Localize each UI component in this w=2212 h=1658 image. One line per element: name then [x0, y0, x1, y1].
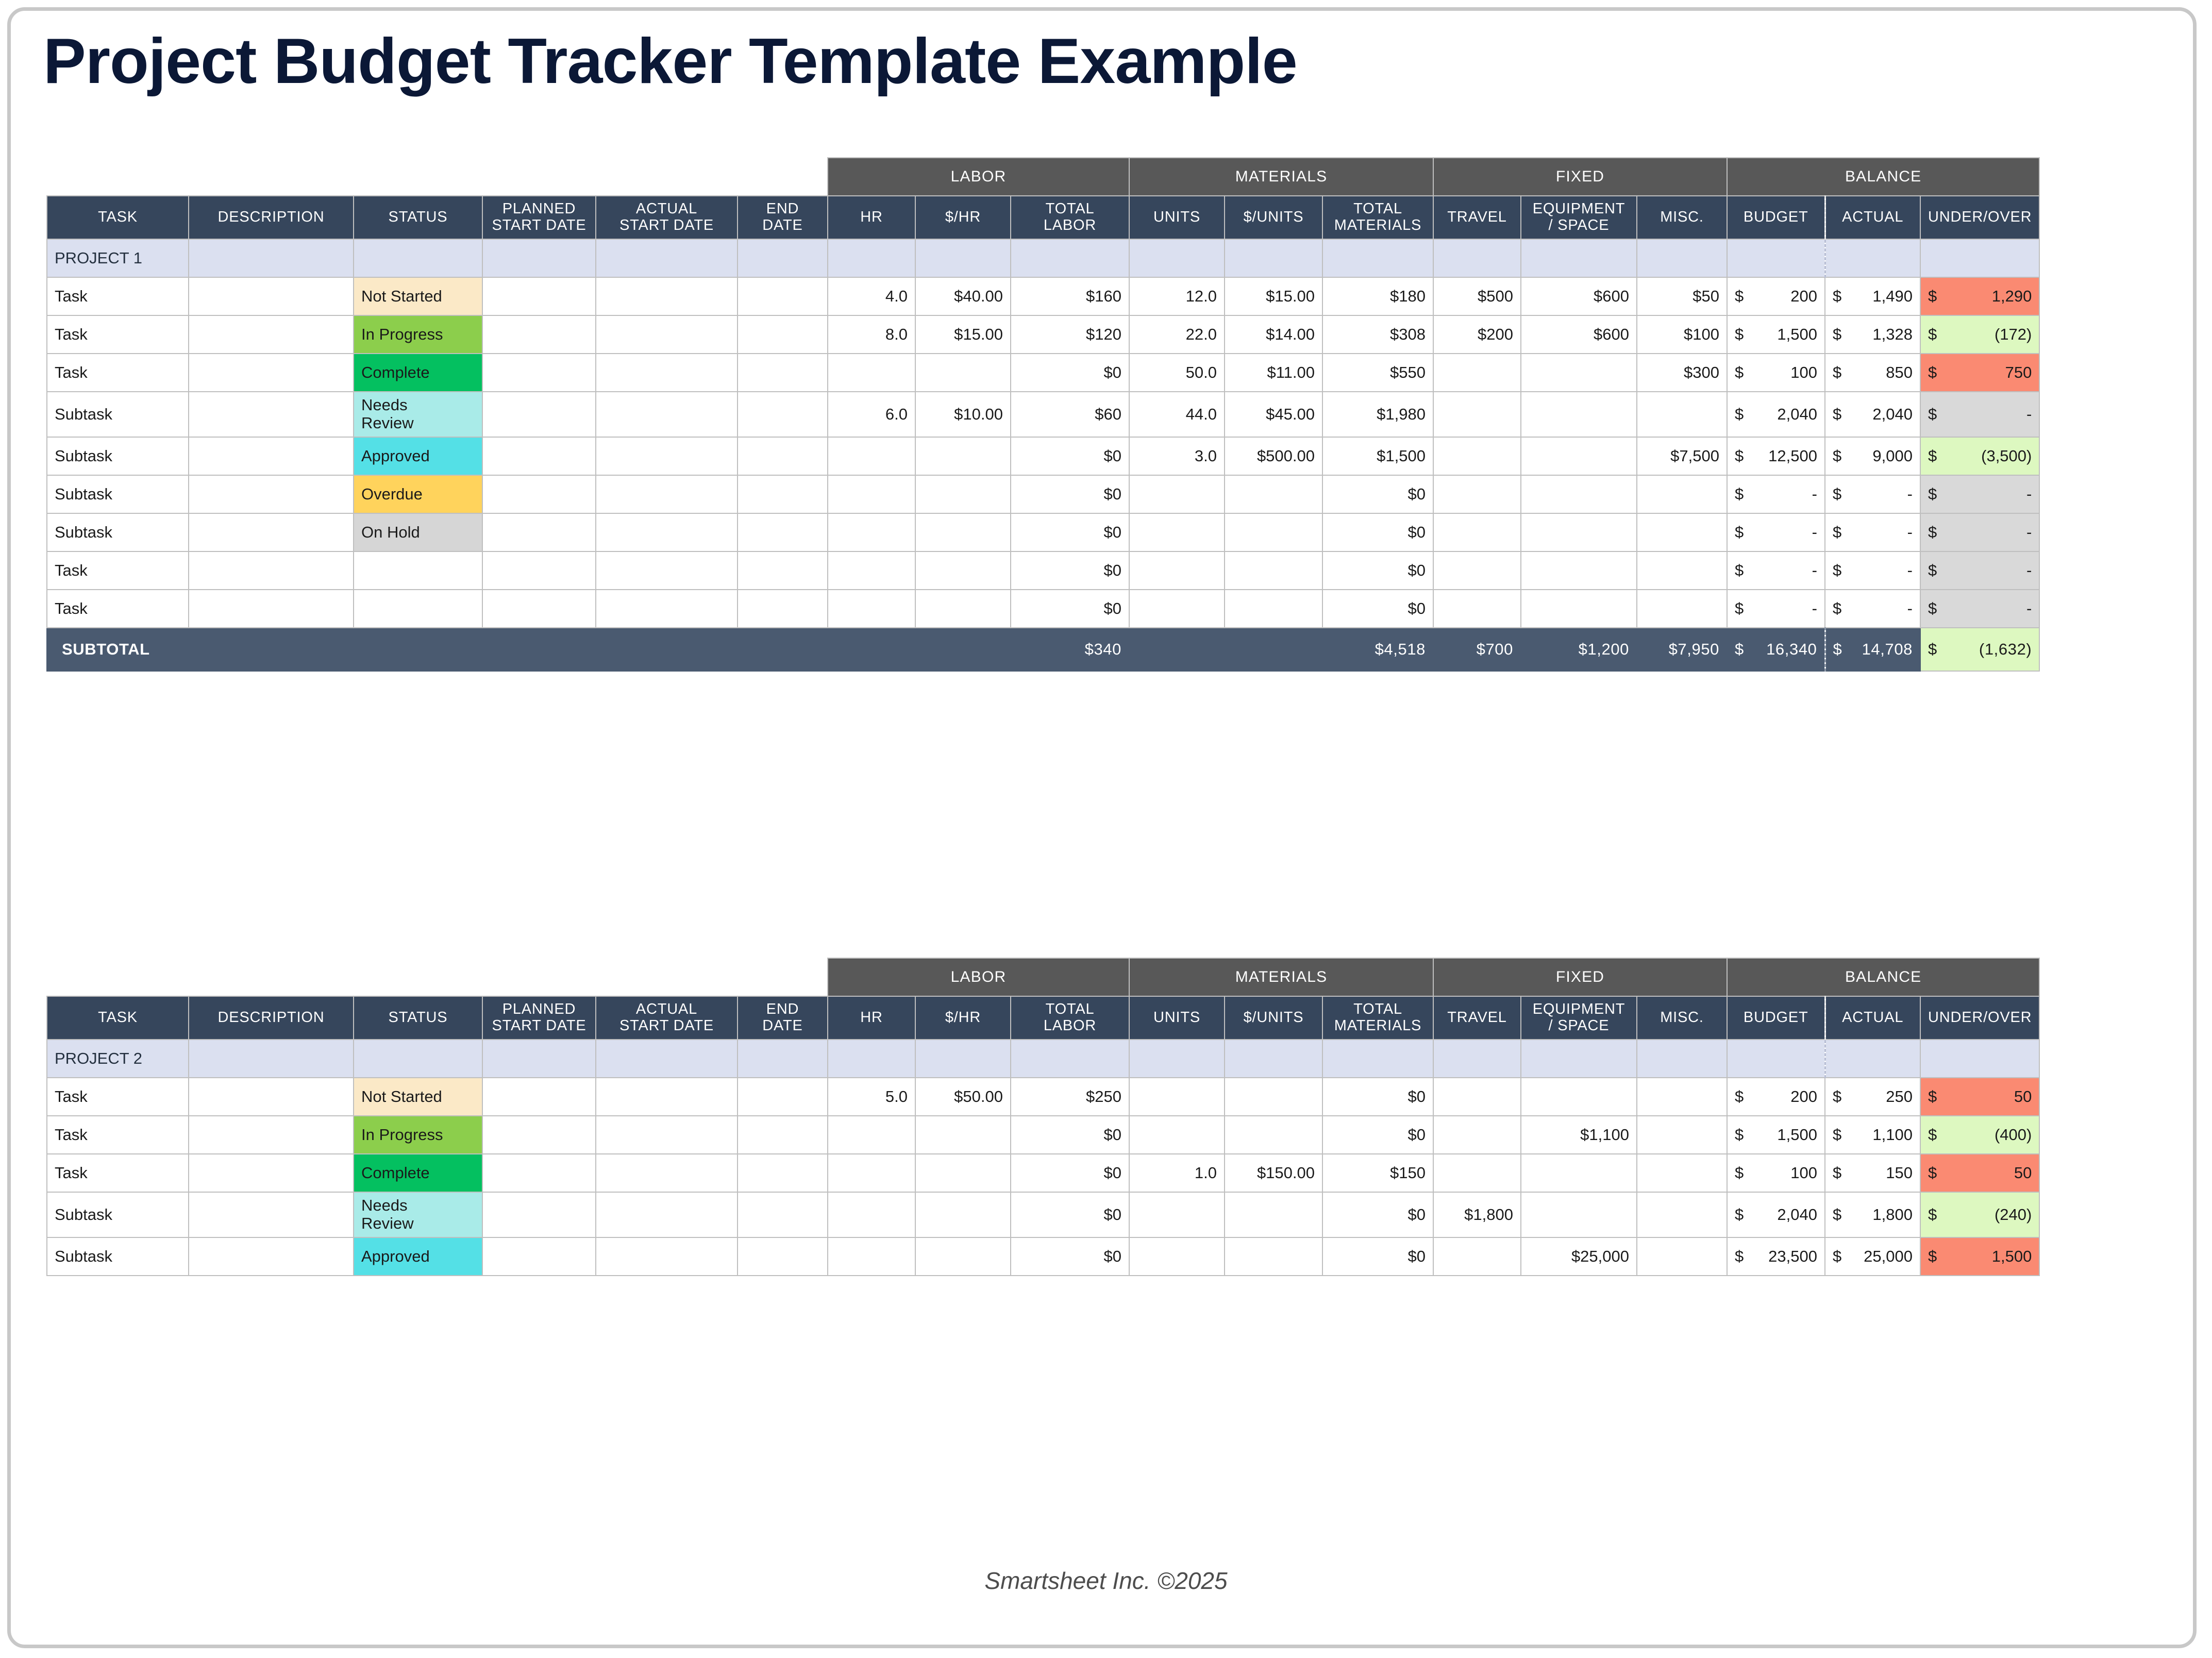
actual-start-date-cell[interactable]	[596, 315, 738, 354]
actual-cell: $1,328	[1825, 315, 1920, 354]
status-badge[interactable]: Approved	[354, 437, 482, 475]
units-cell[interactable]: 3.0	[1129, 437, 1225, 475]
subtask-label[interactable]: Subtask	[47, 437, 189, 475]
unit-cost-cell[interactable]	[1225, 1192, 1322, 1237]
end-date-cell[interactable]	[738, 590, 828, 628]
group-header-balance: BALANCE	[1727, 158, 2039, 196]
equipment-cell[interactable]: $25,000	[1521, 1237, 1637, 1276]
hr-cell[interactable]: 5.0	[828, 1078, 915, 1116]
status-badge[interactable]: Approved	[354, 1237, 482, 1276]
misc-cell[interactable]: $50	[1637, 277, 1727, 315]
rate-cell[interactable]	[915, 475, 1011, 513]
column-header-description: DESCRIPTION	[189, 996, 354, 1040]
subtotal-budget: $16,340	[1727, 628, 1825, 671]
actual-cell: $-	[1825, 475, 1920, 513]
equipment-cell[interactable]: $1,100	[1521, 1116, 1637, 1154]
total-materials-cell: $0	[1322, 1116, 1433, 1154]
rate-cell[interactable]	[915, 1192, 1011, 1237]
rate-cell[interactable]	[915, 513, 1011, 551]
actual-start-date-cell[interactable]	[596, 437, 738, 475]
subtotal-travel: $700	[1433, 628, 1521, 671]
status-badge[interactable]	[354, 551, 482, 590]
table-row: TaskComplete$01.0$150.00$150$100$150$50	[47, 1154, 2039, 1192]
column-header-misc: MISC.	[1637, 996, 1727, 1040]
column-header-status: STATUS	[354, 196, 482, 239]
description-cell[interactable]	[189, 1237, 354, 1276]
subtotal-blank-cell	[596, 628, 738, 671]
task-label[interactable]: Task	[47, 277, 189, 315]
footer-credit: Smartsheet Inc. ©2025	[0, 1567, 2212, 1595]
total-labor-cell: $0	[1011, 437, 1129, 475]
hr-cell[interactable]	[828, 513, 915, 551]
actual-start-date-cell[interactable]	[596, 277, 738, 315]
subtotal-blank-cell	[482, 628, 596, 671]
hr-cell[interactable]	[828, 1154, 915, 1192]
actual-cell: $-	[1825, 551, 1920, 590]
column-header-equipment-space: EQUIPMENT/ SPACE	[1521, 196, 1637, 239]
units-cell[interactable]	[1129, 1116, 1225, 1154]
equipment-cell[interactable]: $600	[1521, 277, 1637, 315]
misc-cell[interactable]	[1637, 513, 1727, 551]
status-badge[interactable]: In Progress	[354, 1116, 482, 1154]
project-label: PROJECT 2	[47, 1040, 189, 1078]
misc-cell[interactable]	[1637, 475, 1727, 513]
actual-start-date-cell[interactable]	[596, 513, 738, 551]
actual-cell: $2,040	[1825, 392, 1920, 437]
planned-start-date-cell[interactable]	[482, 475, 596, 513]
project-row-cell	[354, 239, 482, 277]
unit-cost-cell[interactable]: $14.00	[1225, 315, 1322, 354]
subtotal-units	[1129, 628, 1225, 671]
misc-cell[interactable]: $300	[1637, 354, 1727, 392]
column-header-total-labor: TOTALLABOR	[1011, 196, 1129, 239]
unit-cost-cell[interactable]: $150.00	[1225, 1154, 1322, 1192]
rate-cell[interactable]	[915, 551, 1011, 590]
hr-cell[interactable]	[828, 437, 915, 475]
project-row-cell	[1011, 1040, 1129, 1078]
total-labor-cell: $0	[1011, 354, 1129, 392]
end-date-cell[interactable]	[738, 475, 828, 513]
status-badge[interactable]: On Hold	[354, 513, 482, 551]
column-header-description: DESCRIPTION	[189, 196, 354, 239]
hr-cell[interactable]: 4.0	[828, 277, 915, 315]
total-materials-cell: $308	[1322, 315, 1433, 354]
actual-start-date-cell[interactable]	[596, 1237, 738, 1276]
unit-cost-cell[interactable]: $45.00	[1225, 392, 1322, 437]
project-header-row: PROJECT 2	[47, 1040, 2039, 1078]
column-header-budget: BUDGET	[1727, 196, 1825, 239]
end-date-cell[interactable]	[738, 354, 828, 392]
table-row: TaskIn Progress$0$0$1,100$1,500$1,100$(4…	[47, 1116, 2039, 1154]
description-cell[interactable]	[189, 277, 354, 315]
travel-cell[interactable]	[1433, 1116, 1521, 1154]
column-header-equipment-space: EQUIPMENT/ SPACE	[1521, 996, 1637, 1040]
total-materials-cell: $150	[1322, 1154, 1433, 1192]
under-over-cell: $1,290	[1920, 277, 2039, 315]
unit-cost-cell[interactable]: $15.00	[1225, 277, 1322, 315]
description-cell[interactable]	[189, 590, 354, 628]
project-row-cell	[1322, 1040, 1433, 1078]
budget-cell: $12,500	[1727, 437, 1825, 475]
column-header-end-date: ENDDATE	[738, 996, 828, 1040]
project-row-cell	[1322, 239, 1433, 277]
planned-start-date-cell[interactable]	[482, 513, 596, 551]
table-row: SubtaskNeedsReview6.0$10.00$6044.0$45.00…	[47, 392, 2039, 437]
column-header-row: TASKDESCRIPTIONSTATUSPLANNEDSTART DATEAC…	[47, 996, 2039, 1040]
subtotal-hr	[828, 628, 915, 671]
project-row-cell	[354, 1040, 482, 1078]
unit-cost-cell[interactable]	[1225, 1116, 1322, 1154]
subtotal-blank-cell	[189, 628, 354, 671]
units-cell[interactable]: 50.0	[1129, 354, 1225, 392]
project-row-cell	[1637, 239, 1727, 277]
equipment-cell[interactable]	[1521, 475, 1637, 513]
actual-start-date-cell[interactable]	[596, 1154, 738, 1192]
description-cell[interactable]	[189, 1192, 354, 1237]
hr-cell[interactable]: 8.0	[828, 315, 915, 354]
column-header-status: STATUS	[354, 996, 482, 1040]
project-row-cell	[1727, 239, 1825, 277]
table-row: SubtaskOverdue$0$0$-$-$-	[47, 475, 2039, 513]
rate-cell[interactable]	[915, 1116, 1011, 1154]
column-header-travel: TRAVEL	[1433, 196, 1521, 239]
planned-start-date-cell[interactable]	[482, 551, 596, 590]
misc-cell[interactable]: $7,500	[1637, 437, 1727, 475]
misc-cell[interactable]	[1637, 551, 1727, 590]
table-row: TaskIn Progress8.0$15.00$12022.0$14.00$3…	[47, 315, 2039, 354]
task-label[interactable]: Task	[47, 1154, 189, 1192]
column-header-hr: $/HR	[915, 196, 1011, 239]
description-cell[interactable]	[189, 475, 354, 513]
subtask-label[interactable]: Subtask	[47, 513, 189, 551]
planned-start-date-cell[interactable]	[482, 277, 596, 315]
hr-cell[interactable]	[828, 1192, 915, 1237]
task-label[interactable]: Task	[47, 590, 189, 628]
misc-cell[interactable]	[1637, 1237, 1727, 1276]
travel-cell[interactable]	[1433, 590, 1521, 628]
subtotal-misc: $7,950	[1637, 628, 1727, 671]
under-over-cell: $-	[1920, 392, 2039, 437]
total-materials-cell: $180	[1322, 277, 1433, 315]
subtotal-rate	[915, 628, 1011, 671]
column-header-units: UNITS	[1129, 996, 1225, 1040]
travel-cell[interactable]	[1433, 1154, 1521, 1192]
unit-cost-cell[interactable]	[1225, 551, 1322, 590]
rate-cell[interactable]	[915, 1237, 1011, 1276]
group-header-row: LABORMATERIALSFIXEDBALANCE	[47, 158, 2039, 196]
planned-start-date-cell[interactable]	[482, 1192, 596, 1237]
actual-start-date-cell[interactable]	[596, 590, 738, 628]
rate-cell[interactable]: $40.00	[915, 277, 1011, 315]
units-cell[interactable]	[1129, 513, 1225, 551]
units-cell[interactable]	[1129, 551, 1225, 590]
task-label[interactable]: Task	[47, 1078, 189, 1116]
travel-cell[interactable]	[1433, 354, 1521, 392]
project-row-cell	[1433, 1040, 1521, 1078]
planned-start-date-cell[interactable]	[482, 1154, 596, 1192]
subtotal-blank-cell	[738, 628, 828, 671]
total-labor-cell: $250	[1011, 1078, 1129, 1116]
subtask-label[interactable]: Subtask	[47, 1192, 189, 1237]
status-badge[interactable]: In Progress	[354, 315, 482, 354]
project-row-cell	[738, 239, 828, 277]
column-header-total-materials: TOTALMATERIALS	[1322, 996, 1433, 1040]
subtotal-actual: $14,708	[1825, 628, 1920, 671]
budget-cell: $23,500	[1727, 1237, 1825, 1276]
end-date-cell[interactable]	[738, 1237, 828, 1276]
description-cell[interactable]	[189, 354, 354, 392]
units-cell[interactable]	[1129, 590, 1225, 628]
misc-cell[interactable]	[1637, 1192, 1727, 1237]
project-row-cell	[1825, 1040, 1920, 1078]
project-row-cell	[1825, 239, 1920, 277]
column-header-planned-start-date: PLANNEDSTART DATE	[482, 996, 596, 1040]
project-row-cell	[738, 1040, 828, 1078]
column-header-actual: ACTUAL	[1825, 996, 1920, 1040]
equipment-cell[interactable]	[1521, 590, 1637, 628]
total-labor-cell: $0	[1011, 551, 1129, 590]
units-cell[interactable]: 44.0	[1129, 392, 1225, 437]
units-cell[interactable]	[1129, 1078, 1225, 1116]
project-row-cell	[482, 1040, 596, 1078]
unit-cost-cell[interactable]	[1225, 1078, 1322, 1116]
equipment-cell[interactable]	[1521, 354, 1637, 392]
project-row-cell	[1920, 1040, 2039, 1078]
travel-cell[interactable]	[1433, 1237, 1521, 1276]
total-labor-cell: $0	[1011, 590, 1129, 628]
units-cell[interactable]: 22.0	[1129, 315, 1225, 354]
rate-cell[interactable]	[915, 1154, 1011, 1192]
subtotal-row: SUBTOTAL$340$4,518$700$1,200$7,950$16,34…	[47, 628, 2039, 671]
description-cell[interactable]	[189, 1154, 354, 1192]
subtotal-total-labor: $340	[1011, 628, 1129, 671]
budget-cell: $2,040	[1727, 392, 1825, 437]
under-over-cell: $(400)	[1920, 1116, 2039, 1154]
equipment-cell[interactable]	[1521, 551, 1637, 590]
misc-cell[interactable]	[1637, 590, 1727, 628]
total-materials-cell: $0	[1322, 513, 1433, 551]
total-materials-cell: $1,500	[1322, 437, 1433, 475]
under-over-cell: $-	[1920, 475, 2039, 513]
project-row-cell	[915, 239, 1011, 277]
units-cell[interactable]	[1129, 1237, 1225, 1276]
description-cell[interactable]	[189, 437, 354, 475]
travel-cell[interactable]	[1433, 513, 1521, 551]
equipment-cell[interactable]	[1521, 513, 1637, 551]
status-badge[interactable]: NeedsReview	[354, 392, 482, 437]
group-header-materials: MATERIALS	[1129, 158, 1433, 196]
travel-cell[interactable]	[1433, 392, 1521, 437]
project-row-cell	[189, 1040, 354, 1078]
equipment-cell[interactable]	[1521, 1192, 1637, 1237]
planned-start-date-cell[interactable]	[482, 1237, 596, 1276]
actual-start-date-cell[interactable]	[596, 1192, 738, 1237]
misc-cell[interactable]	[1637, 1116, 1727, 1154]
table-row: TaskComplete$050.0$11.00$550$300$100$850…	[47, 354, 2039, 392]
column-header-actual-start-date: ACTUALSTART DATE	[596, 196, 738, 239]
hr-cell[interactable]	[828, 475, 915, 513]
travel-cell[interactable]: $1,800	[1433, 1192, 1521, 1237]
rate-cell[interactable]	[915, 354, 1011, 392]
equipment-cell[interactable]	[1521, 437, 1637, 475]
subtotal-unit-cost	[1225, 628, 1322, 671]
travel-cell[interactable]	[1433, 475, 1521, 513]
subtotal-under-over: $(1,632)	[1920, 628, 2039, 671]
task-label[interactable]: Task	[47, 315, 189, 354]
column-header-units: $/UNITS	[1225, 196, 1322, 239]
project-row-cell	[596, 1040, 738, 1078]
travel-cell[interactable]	[1433, 437, 1521, 475]
hr-cell[interactable]	[828, 590, 915, 628]
travel-cell[interactable]: $200	[1433, 315, 1521, 354]
end-date-cell[interactable]	[738, 1192, 828, 1237]
actual-cell: $1,800	[1825, 1192, 1920, 1237]
units-cell[interactable]	[1129, 475, 1225, 513]
hr-cell[interactable]	[828, 1116, 915, 1154]
end-date-cell[interactable]	[738, 551, 828, 590]
hr-cell[interactable]	[828, 354, 915, 392]
subtotal-total-materials: $4,518	[1322, 628, 1433, 671]
column-header-units: UNITS	[1129, 196, 1225, 239]
misc-cell[interactable]	[1637, 392, 1727, 437]
rate-cell[interactable]: $10.00	[915, 392, 1011, 437]
project-row-cell	[1521, 239, 1637, 277]
rate-cell[interactable]: $50.00	[915, 1078, 1011, 1116]
equipment-cell[interactable]	[1521, 1154, 1637, 1192]
equipment-cell[interactable]: $600	[1521, 315, 1637, 354]
misc-cell[interactable]	[1637, 1154, 1727, 1192]
units-cell[interactable]: 1.0	[1129, 1154, 1225, 1192]
unit-cost-cell[interactable]	[1225, 475, 1322, 513]
project-row-cell	[828, 239, 915, 277]
table-row: Task$0$0$-$-$-	[47, 590, 2039, 628]
actual-start-date-cell[interactable]	[596, 392, 738, 437]
column-header-misc: MISC.	[1637, 196, 1727, 239]
column-header-task: TASK	[47, 996, 189, 1040]
planned-start-date-cell[interactable]	[482, 1116, 596, 1154]
description-cell[interactable]	[189, 392, 354, 437]
end-date-cell[interactable]	[738, 1078, 828, 1116]
total-labor-cell: $0	[1011, 1154, 1129, 1192]
misc-cell[interactable]: $100	[1637, 315, 1727, 354]
subtask-label[interactable]: Subtask	[47, 475, 189, 513]
end-date-cell[interactable]	[738, 1154, 828, 1192]
end-date-cell[interactable]	[738, 277, 828, 315]
description-cell[interactable]	[189, 315, 354, 354]
project-row-cell	[189, 239, 354, 277]
status-badge[interactable]: NeedsReview	[354, 1192, 482, 1237]
description-cell[interactable]	[189, 1078, 354, 1116]
budget-cell: $1,500	[1727, 1116, 1825, 1154]
units-cell[interactable]: 12.0	[1129, 277, 1225, 315]
unit-cost-cell[interactable]	[1225, 1237, 1322, 1276]
misc-cell[interactable]	[1637, 1078, 1727, 1116]
travel-cell[interactable]	[1433, 551, 1521, 590]
end-date-cell[interactable]	[738, 315, 828, 354]
equipment-cell[interactable]	[1521, 1078, 1637, 1116]
total-materials-cell: $0	[1322, 551, 1433, 590]
under-over-cell: $750	[1920, 354, 2039, 392]
status-badge[interactable]	[354, 590, 482, 628]
end-date-cell[interactable]	[738, 392, 828, 437]
column-header-units: $/UNITS	[1225, 996, 1322, 1040]
hr-cell[interactable]	[828, 551, 915, 590]
unit-cost-cell[interactable]: $500.00	[1225, 437, 1322, 475]
task-label[interactable]: Task	[47, 1116, 189, 1154]
status-badge[interactable]: Not Started	[354, 1078, 482, 1116]
project-row-cell	[1637, 1040, 1727, 1078]
hr-cell[interactable]: 6.0	[828, 392, 915, 437]
rate-cell[interactable]: $15.00	[915, 315, 1011, 354]
actual-cell: $25,000	[1825, 1237, 1920, 1276]
under-over-cell: $(240)	[1920, 1192, 2039, 1237]
project-row-cell	[1433, 239, 1521, 277]
planned-start-date-cell[interactable]	[482, 1078, 596, 1116]
status-badge[interactable]: Not Started	[354, 277, 482, 315]
actual-start-date-cell[interactable]	[596, 551, 738, 590]
end-date-cell[interactable]	[738, 513, 828, 551]
actual-start-date-cell[interactable]	[596, 475, 738, 513]
actual-start-date-cell[interactable]	[596, 1116, 738, 1154]
hr-cell[interactable]	[828, 1237, 915, 1276]
travel-cell[interactable]: $500	[1433, 277, 1521, 315]
subtotal-blank-cell	[354, 628, 482, 671]
budget-cell: $-	[1727, 590, 1825, 628]
end-date-cell[interactable]	[738, 437, 828, 475]
description-cell[interactable]	[189, 1116, 354, 1154]
under-over-cell: $-	[1920, 590, 2039, 628]
rate-cell[interactable]	[915, 437, 1011, 475]
subtask-label[interactable]: Subtask	[47, 392, 189, 437]
description-cell[interactable]	[189, 551, 354, 590]
equipment-cell[interactable]	[1521, 392, 1637, 437]
status-badge[interactable]: Complete	[354, 354, 482, 392]
description-cell[interactable]	[189, 513, 354, 551]
column-header-actual-start-date: ACTUALSTART DATE	[596, 996, 738, 1040]
status-badge[interactable]: Complete	[354, 1154, 482, 1192]
unit-cost-cell[interactable]	[1225, 513, 1322, 551]
status-badge[interactable]: Overdue	[354, 475, 482, 513]
project-header-row: PROJECT 1	[47, 239, 2039, 277]
planned-start-date-cell[interactable]	[482, 590, 596, 628]
subtotal-label: SUBTOTAL	[47, 628, 189, 671]
rate-cell[interactable]	[915, 590, 1011, 628]
project-row-cell	[1727, 1040, 1825, 1078]
total-labor-cell: $0	[1011, 475, 1129, 513]
units-cell[interactable]	[1129, 1192, 1225, 1237]
actual-cell: $850	[1825, 354, 1920, 392]
end-date-cell[interactable]	[738, 1116, 828, 1154]
total-labor-cell: $160	[1011, 277, 1129, 315]
actual-start-date-cell[interactable]	[596, 1078, 738, 1116]
table-row: SubtaskOn Hold$0$0$-$-$-	[47, 513, 2039, 551]
unit-cost-cell[interactable]	[1225, 590, 1322, 628]
actual-start-date-cell[interactable]	[596, 354, 738, 392]
task-label[interactable]: Task	[47, 354, 189, 392]
planned-start-date-cell[interactable]	[482, 437, 596, 475]
planned-start-date-cell[interactable]	[482, 354, 596, 392]
subtotal-equipment: $1,200	[1521, 628, 1637, 671]
travel-cell[interactable]	[1433, 1078, 1521, 1116]
planned-start-date-cell[interactable]	[482, 315, 596, 354]
task-label[interactable]: Task	[47, 551, 189, 590]
project-row-cell	[1521, 1040, 1637, 1078]
planned-start-date-cell[interactable]	[482, 392, 596, 437]
unit-cost-cell[interactable]: $11.00	[1225, 354, 1322, 392]
column-header-budget: BUDGET	[1727, 996, 1825, 1040]
subtask-label[interactable]: Subtask	[47, 1237, 189, 1276]
under-over-cell: $(3,500)	[1920, 437, 2039, 475]
